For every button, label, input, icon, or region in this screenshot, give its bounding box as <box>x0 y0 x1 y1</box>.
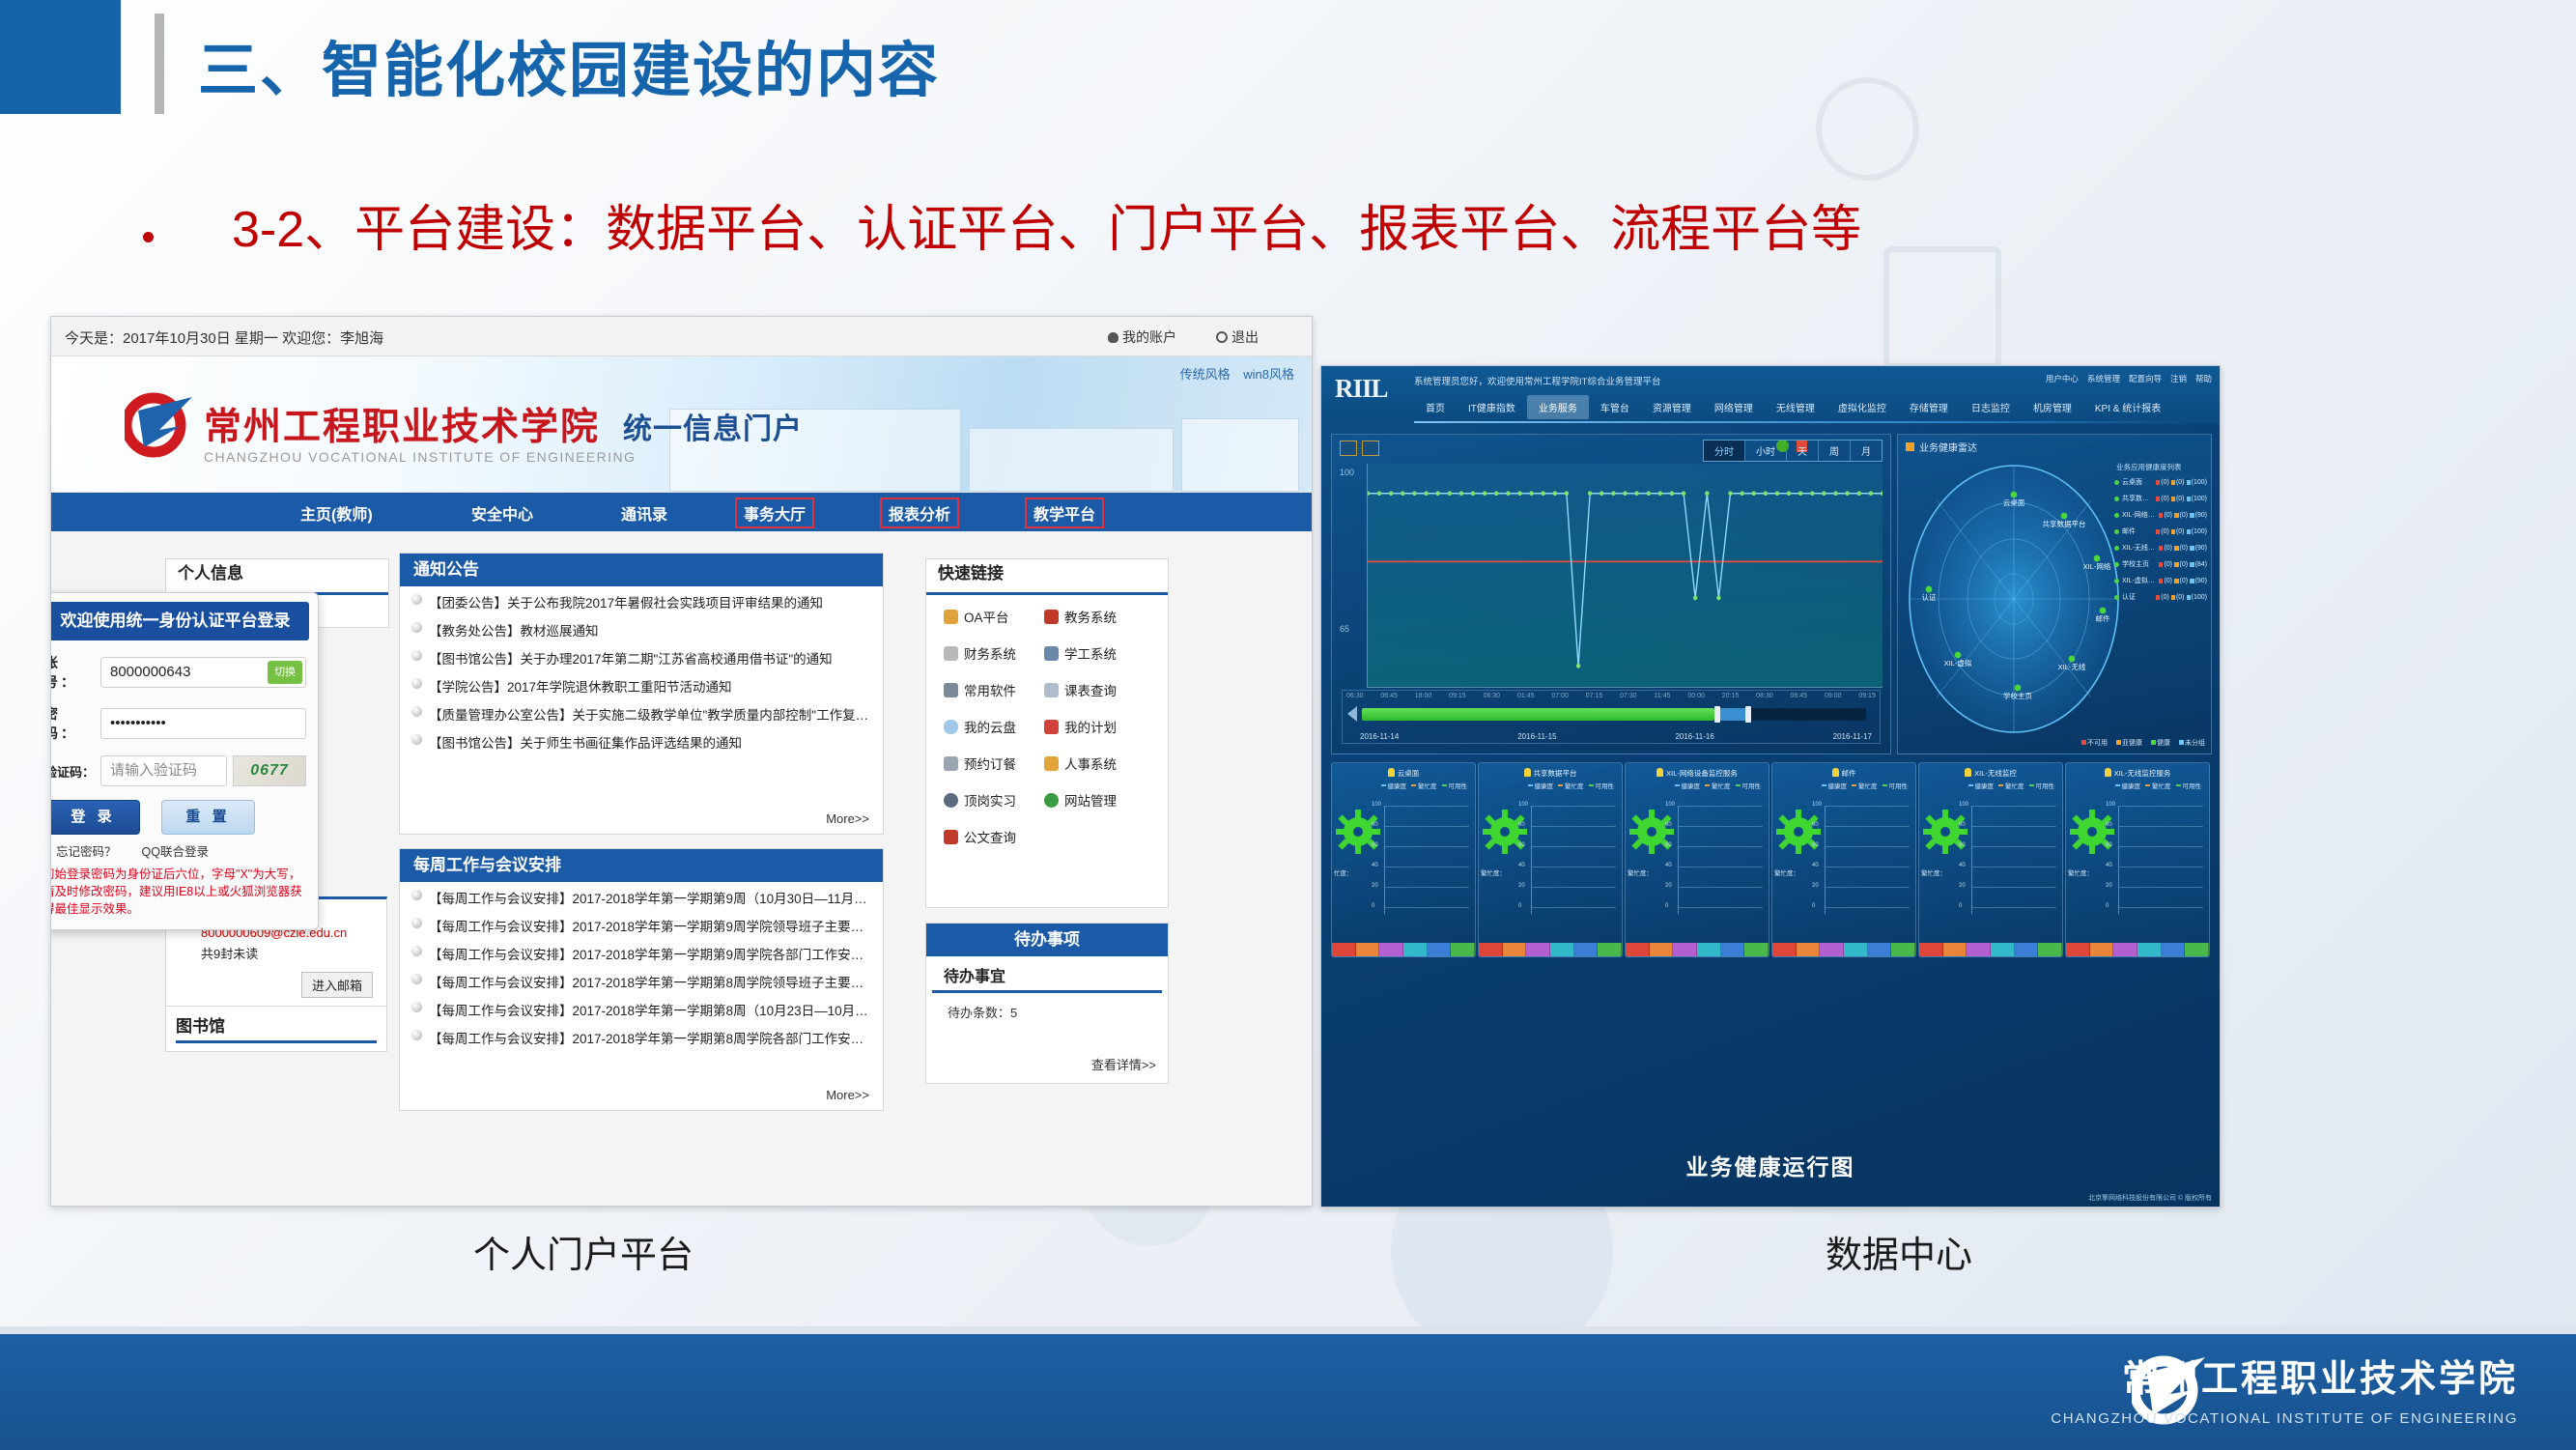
service-card[interactable]: 云桌面健康度繁忙度可用性忙度：10080604020008:3008:4509:… <box>1331 762 1476 957</box>
quicklink-academic-system[interactable]: 教务系统 <box>1044 607 1145 626</box>
list-item[interactable]: 【每周工作与会议安排】2017-2018学年第一学期第9周学院各部门工作安排表 <box>410 944 873 963</box>
health-app-name: XIL-虚拟… <box>2122 576 2157 585</box>
riil-logo: RIIL <box>1335 374 1388 404</box>
switch-account-tag[interactable]: 切换 <box>268 661 302 684</box>
card-chip[interactable] <box>2090 943 2114 956</box>
card-gridline <box>2119 867 2203 867</box>
quicklink-my-plan[interactable]: 我的计划 <box>1044 717 1145 736</box>
my-account-link[interactable]: 我的账户 <box>1108 327 1176 347</box>
card-chip[interactable] <box>1772 943 1797 956</box>
health-list-row[interactable]: 共享数据平台(0)(0)(100) <box>2114 494 2207 503</box>
red-count-swatch <box>2156 529 2160 534</box>
quicklink-meal-booking[interactable]: 预约订餐 <box>944 753 1044 773</box>
time-tick: 18:00 <box>1415 693 1432 699</box>
dc-help[interactable]: 帮助 <box>2195 373 2212 384</box>
quicklink-internship[interactable]: 顶岗实习 <box>944 790 1044 810</box>
todo-view-link[interactable]: 查看详情>> <box>1091 1055 1156 1073</box>
blue-count-swatch <box>2187 595 2191 600</box>
login-dialog: 欢迎使用统一身份认证平台登录 帐 号： 8000000643 切换 密 码： •… <box>50 592 319 930</box>
account-input[interactable]: 8000000643 切换 <box>100 657 306 688</box>
time-tick: 07:15 <box>1586 693 1603 699</box>
dc-caption: 业务健康运行图 <box>1321 1149 2220 1181</box>
status-healthy: 健康 <box>2149 738 2170 748</box>
trend-chart-panel: 分时 小时 天 周 月 100 65 06:3006:4518:0009:150… <box>1331 434 1891 754</box>
card-y-tick: 20 <box>1518 883 1525 889</box>
radar-node[interactable] <box>1955 652 1962 659</box>
quicklink-document-query[interactable]: 公文查询 <box>944 827 1044 846</box>
forgot-password-link[interactable]: 忘记密码？ <box>56 841 117 860</box>
list-item[interactable]: 【每周工作与会议安排】2017-2018学年第一学期第9周学院领导班子主要工作安… <box>410 916 873 935</box>
date-tick: 2016-11-17 <box>1833 732 1872 741</box>
card-legend: 健康度繁忙度可用性 <box>1919 779 2062 790</box>
dc-config-wizard[interactable]: 配置向导 <box>2129 373 2162 384</box>
status-dot-icon <box>2114 579 2119 583</box>
dc-nav-home[interactable]: 首页 <box>1414 395 1457 419</box>
health-list-row[interactable]: XIL-无线…(0)(0)(90) <box>2114 543 2207 553</box>
card-legend: 健康度繁忙度可用性 <box>1626 779 1769 790</box>
orange-count: (0) <box>2176 528 2185 535</box>
card-chip[interactable] <box>1943 943 1967 956</box>
range-tab-week[interactable]: 周 <box>1819 441 1851 461</box>
password-input[interactable]: ••••••••••• <box>100 708 306 739</box>
card-chip-row <box>2066 943 2209 956</box>
dc-header: RIIL 系统管理员您好，欢迎使用常州工程学院IT综合业务管理平台 用户中心 系… <box>1321 366 2220 424</box>
card-chip[interactable] <box>1332 943 1356 956</box>
dc-nav-business-service[interactable]: 业务服务 <box>1527 395 1589 419</box>
card-chip[interactable] <box>1673 943 1697 956</box>
card-busy-label: 繁忙度： <box>1921 867 1946 877</box>
nav-item-report-analysis[interactable]: 报表分析 <box>880 498 959 528</box>
card-gridline <box>1826 806 1910 807</box>
card-y-tick: 60 <box>1959 842 1966 848</box>
dc-welcome-text: 系统管理员您好，欢迎使用常州工程学院IT综合业务管理平台 <box>1414 374 1660 387</box>
trend-line-chart <box>1368 464 1882 687</box>
y-axis-tick-max: 100 <box>1340 468 1354 477</box>
card-chip[interactable] <box>2162 943 2186 956</box>
card-chip[interactable] <box>2185 943 2209 956</box>
card-chip[interactable] <box>1356 943 1380 956</box>
red-count: (0) <box>2161 496 2169 502</box>
range-slider-handle-right[interactable] <box>1745 706 1751 723</box>
blue-count: (100) <box>2192 479 2207 486</box>
campus-photo-deco-2 <box>969 428 1174 492</box>
time-tick: 09:15 <box>1449 693 1466 699</box>
card-chip[interactable] <box>1797 943 1821 956</box>
skin-classic-link[interactable]: 传统风格 <box>1180 367 1231 382</box>
health-list-title: 业务应用健康度列表 <box>2114 462 2207 472</box>
quicklink-website-admin[interactable]: 网站管理 <box>1044 790 1145 810</box>
card-chip[interactable] <box>1697 943 1721 956</box>
card-title: 共享数据平台 <box>1479 763 1622 779</box>
blue-count-swatch <box>2190 579 2194 583</box>
nav-item-security[interactable]: 安全中心 <box>471 501 533 525</box>
quicklink-finance-system[interactable]: 财务系统 <box>944 643 1044 663</box>
red-count-swatch <box>2159 579 2164 583</box>
card-chip[interactable] <box>1526 943 1550 956</box>
card-chip[interactable] <box>2015 943 2039 956</box>
card-chip[interactable] <box>1574 943 1599 956</box>
calendar-icon <box>1044 720 1059 734</box>
range-slider-handle-left[interactable] <box>1714 706 1720 723</box>
card-chip[interactable] <box>1868 943 1892 956</box>
list-item[interactable]: 【图书馆公告】关于办理2017年第二期"江苏省高校通用借书证"的通知 <box>410 648 873 668</box>
book-icon <box>944 830 958 844</box>
health-list-row[interactable]: 认证(0)(0)(100) <box>2114 592 2207 602</box>
card-y-tick: 40 <box>1665 863 1672 868</box>
radar-node[interactable] <box>1926 586 1933 593</box>
radar-node-label: 共享数据平台 <box>2043 519 2086 528</box>
list-item[interactable]: 【每周工作与会议安排】2017-2018学年第一学期第8周学院领导班子主要工作安… <box>410 972 873 991</box>
red-count-swatch <box>2156 595 2160 600</box>
captcha-row: 验证码： 请输入验证码 0677 <box>50 755 306 786</box>
health-list-row[interactable]: XIL-网络…(0)(0)(90) <box>2114 510 2207 520</box>
service-card[interactable]: XIL-无线监控服务健康度繁忙度可用性繁忙度：10080604020008:30… <box>2065 762 2210 957</box>
skin-win8-link[interactable]: win8风格 <box>1243 367 1294 382</box>
dc-user-center[interactable]: 用户中心 <box>2046 373 2079 384</box>
status-dot-icon <box>2114 562 2119 567</box>
dc-nav-virtualization[interactable]: 虚拟化监控 <box>1826 395 1898 419</box>
card-plot-area: 10080604020008:3008:4509:0009:15 <box>1678 806 1763 914</box>
list-item[interactable]: 【团委公告】关于公布我院2017年暑假社会实践项目评审结果的通知 <box>410 592 873 611</box>
card-gridline <box>1385 867 1469 867</box>
card-chip[interactable] <box>1479 943 1503 956</box>
time-tick: 08:30 <box>1756 693 1773 699</box>
card-gridline <box>1532 846 1616 847</box>
status-unavailable: 不可用 <box>2080 738 2108 748</box>
health-app-name: 学校主页 <box>2122 559 2157 569</box>
title-accent-block <box>0 0 121 114</box>
range-tab-month[interactable]: 月 <box>1851 441 1882 461</box>
card-y-tick: 100 <box>1812 802 1822 808</box>
card-gridline <box>1532 907 1616 908</box>
card-y-tick: 0 <box>1372 903 1374 909</box>
radar-node[interactable] <box>2069 656 2076 663</box>
card-y-tick: 60 <box>1372 842 1378 848</box>
card-y-tick: 100 <box>1372 802 1381 808</box>
service-card[interactable]: XIL-无线监控健康度繁忙度可用性繁忙度：10080604020008:3008… <box>1918 762 2063 957</box>
card-chip[interactable] <box>1428 943 1452 956</box>
card-chip[interactable] <box>1650 943 1674 956</box>
card-gridline <box>1826 867 1910 867</box>
portal-banner: 传统风格 win8风格 常州工程职业技术学院 CHANGZHOU VOCATIO… <box>51 356 1312 493</box>
health-list-row[interactable]: 云桌面(0)(0)(100) <box>2114 477 2207 487</box>
dc-nav-log-monitor[interactable]: 日志监控 <box>1960 395 2022 419</box>
captcha-label: 验证码： <box>50 762 100 781</box>
card-y-tick: 0 <box>2106 903 2109 909</box>
chart-view-toggle[interactable] <box>1340 441 1379 456</box>
card-chip[interactable] <box>1820 943 1844 956</box>
list-item[interactable]: 【每周工作与会议安排】2017-2018学年第一学期第8周（10月23日—10月… <box>410 1000 873 1019</box>
card-title: 云桌面 <box>1332 763 1475 779</box>
blue-count: (84) <box>2195 561 2207 568</box>
orange-count: (0) <box>2180 512 2189 519</box>
quicklink-hr-system[interactable]: 人事系统 <box>1044 753 1145 773</box>
card-chip[interactable] <box>1919 943 1943 956</box>
login-button[interactable]: 登 录 <box>50 800 140 835</box>
card-gridline <box>1679 826 1763 827</box>
card-gridline <box>1679 806 1763 807</box>
range-tab-day[interactable]: 天 <box>1787 441 1819 461</box>
nav-item-home[interactable]: 主页(教师) <box>300 501 373 525</box>
quicklink-my-cloud-disk[interactable]: 我的云盘 <box>944 717 1044 736</box>
card-y-tick: 40 <box>1812 863 1819 868</box>
monitor-icon <box>944 683 958 697</box>
card-gridline <box>1679 887 1763 888</box>
service-card[interactable]: 邮件健康度繁忙度可用性繁忙度：10080604020008:3008:4509:… <box>1771 762 1916 957</box>
library-title: 图书馆 <box>176 1012 377 1043</box>
list-item[interactable]: 【每周工作与会议安排】2017-2018学年第一学期第8周学院各部门工作安排表 <box>410 1028 873 1047</box>
card-chip[interactable] <box>1844 943 1868 956</box>
dc-nav-network[interactable]: 网络管理 <box>1703 395 1765 419</box>
card-y-tick: 20 <box>1959 883 1966 889</box>
card-chip[interactable] <box>1891 943 1915 956</box>
library-panel: 图书馆 <box>165 1007 387 1052</box>
cutlery-icon <box>944 756 958 771</box>
skin-switcher[interactable]: 传统风格 win8风格 <box>1171 364 1294 383</box>
dc-footer-note: 北京擎网络科技股份有限公司 © 版权所有 <box>2088 1193 2212 1203</box>
notice-more-link[interactable]: More>> <box>826 811 869 826</box>
caption-left: 个人门户平台 <box>473 1225 694 1278</box>
card-y-tick: 20 <box>2106 883 2112 889</box>
card-chip[interactable] <box>2113 943 2137 956</box>
status-dot-icon <box>2114 546 2119 551</box>
card-y-tick: 80 <box>1665 822 1672 828</box>
range-tab-minute[interactable]: 分时 <box>1704 441 1745 461</box>
reset-button[interactable]: 重 置 <box>161 800 255 835</box>
service-card[interactable]: 共享数据平台健康度繁忙度可用性繁忙度：10080604020008:3008:4… <box>1478 762 1623 957</box>
card-y-tick: 20 <box>1372 883 1378 889</box>
blue-count: (100) <box>2192 528 2207 535</box>
card-chip[interactable] <box>1550 943 1574 956</box>
card-chip[interactable] <box>2137 943 2162 956</box>
card-chip-row <box>1919 943 2062 956</box>
status-dot-icon <box>2114 513 2119 518</box>
quicklink-student-affairs[interactable]: 学工系统 <box>1044 643 1145 663</box>
list-item[interactable]: 【每周工作与会议安排】2017-2018学年第一学期第9周（10月30日—11月… <box>410 888 873 907</box>
card-gridline <box>1532 806 1616 807</box>
orange-count: (0) <box>2180 561 2189 568</box>
card-chip[interactable] <box>1721 943 1745 956</box>
card-busy-label: 繁忙度： <box>1481 867 1506 877</box>
card-chip[interactable] <box>1451 943 1475 956</box>
health-list-rows: 云桌面(0)(0)(100)共享数据平台(0)(0)(100)XIL-网络…(0… <box>2114 477 2207 602</box>
card-chip[interactable] <box>1503 943 1527 956</box>
range-tab-hour[interactable]: 小时 <box>1745 441 1787 461</box>
range-slider-track[interactable] <box>1362 708 1866 721</box>
status-dot-icon <box>2114 497 2119 501</box>
card-gridline <box>1972 887 2056 888</box>
card-chip[interactable] <box>2066 943 2090 956</box>
notice-title: 通知公告 <box>400 554 883 586</box>
todo-count: 待办条数：5 <box>926 993 1168 1021</box>
card-gridline <box>1679 846 1763 847</box>
card-legend: 健康度繁忙度可用性 <box>1479 779 1622 790</box>
quicklink-timetable-query[interactable]: 课表查询 <box>1044 680 1145 699</box>
health-list-row[interactable]: 邮件(0)(0)(100) <box>2114 526 2207 536</box>
radar-node[interactable] <box>2100 608 2107 614</box>
blue-count-swatch <box>2190 513 2194 518</box>
card-title: XIL-网络设备监控服务 <box>1626 763 1769 779</box>
quicklink-oa-platform[interactable]: OA平台 <box>944 607 1044 626</box>
slider-left-arrow-icon[interactable] <box>1347 706 1357 722</box>
power-icon <box>1216 331 1228 343</box>
nav-item-service-hall[interactable]: 事务大厅 <box>735 498 814 528</box>
list-item[interactable]: 【图书馆公告】关于师生书画征集作品评选结果的通知 <box>410 732 873 752</box>
qq-login-link[interactable]: QQ联合登录 <box>142 841 209 860</box>
dc-nav-room[interactable]: 机房管理 <box>2022 395 2083 419</box>
date-tick: 2016-11-15 <box>1517 732 1556 741</box>
watermark-shape-4 <box>1816 77 1919 181</box>
login-sub-links: 忘记密码？ QQ联合登录 <box>56 841 306 860</box>
bulb-icon <box>1524 768 1531 777</box>
money-icon <box>944 646 958 661</box>
red-count: (0) <box>2161 594 2169 601</box>
card-y-tick: 0 <box>1665 903 1668 909</box>
todo-title: 待办事宜 <box>932 956 1162 993</box>
card-gridline <box>1385 907 1469 908</box>
service-card[interactable]: XIL-网络设备监控服务健康度繁忙度可用性繁忙度：10080604020008:… <box>1625 762 1769 957</box>
list-item[interactable]: 【质量管理办公室公告】关于实施二级教学单位"教学质量内部控制"工作复核的通知 <box>410 704 873 724</box>
nav-item-contacts[interactable]: 通讯录 <box>621 501 667 525</box>
time-tick: 06:45 <box>1380 693 1398 699</box>
card-chip[interactable] <box>1403 943 1428 956</box>
red-count: (0) <box>2164 545 2172 552</box>
bulb-icon <box>1388 768 1395 777</box>
card-y-tick: 100 <box>1959 802 1968 808</box>
radar-status-legend: 不可用 亚健康 健康 未分组 <box>2080 738 2205 748</box>
card-gridline <box>2119 806 2203 807</box>
card-title: XIL-无线监控服务 <box>2066 763 2209 779</box>
blue-count: (90) <box>2195 545 2207 552</box>
health-app-name: XIL-无线… <box>2122 543 2157 553</box>
table-view-icon[interactable] <box>1340 441 1357 456</box>
card-chip[interactable] <box>1967 943 1991 956</box>
dc-nav-resource[interactable]: 资源管理 <box>1641 395 1703 419</box>
card-y-tick: 60 <box>2106 842 2112 848</box>
caption-right: 数据中心 <box>1826 1225 1972 1278</box>
campus-photo-deco-3 <box>1181 418 1299 492</box>
weekly-schedule-panel: 每周工作与会议安排 【每周工作与会议安排】2017-2018学年第一学期第9周（… <box>399 848 884 1111</box>
time-range-slider[interactable]: 06:3006:4518:0009:1506:3001:4507:0007:15… <box>1342 690 1881 744</box>
card-plot-area: 10080604020008:3008:4509:0009:15 <box>1971 806 2056 914</box>
radar-node[interactable] <box>2094 555 2101 562</box>
card-chip[interactable] <box>1598 943 1622 956</box>
enter-mailbox-button[interactable]: 进入邮箱 <box>301 972 373 998</box>
card-y-tick: 80 <box>1812 822 1819 828</box>
card-busy-label: 繁忙度： <box>1628 867 1653 877</box>
dc-logout[interactable]: 注销 <box>2170 373 2187 384</box>
radar-node-label: XIL-无线 <box>2058 662 2086 671</box>
orange-count: (0) <box>2180 578 2189 584</box>
dc-nav-wireless[interactable]: 无线管理 <box>1765 395 1826 419</box>
radar-panel-title: 业务健康雷达 <box>1906 440 1977 454</box>
red-count: (0) <box>2161 479 2169 486</box>
card-y-tick: 100 <box>1665 802 1675 808</box>
card-chip-row <box>1332 943 1475 956</box>
weekly-more-link[interactable]: More>> <box>826 1088 869 1102</box>
captcha-input[interactable]: 请输入验证码 <box>100 755 227 786</box>
dc-nav-kpi-reports[interactable]: KPI & 统计报表 <box>2083 395 2172 419</box>
time-tick: 11:45 <box>1655 693 1671 699</box>
portal-topbar: 今天是：2017年10月30日 星期一 欢迎您：李旭海 我的账户 退出 <box>51 317 1312 356</box>
card-y-tick: 80 <box>2106 822 2112 828</box>
weekly-list: 【每周工作与会议安排】2017-2018学年第一学期第9周（10月30日—11月… <box>400 882 883 1047</box>
radar-node-label: 学校主页 <box>2003 691 2032 700</box>
card-chip[interactable] <box>1744 943 1769 956</box>
card-chip[interactable] <box>2038 943 2062 956</box>
health-radar-panel: 业务健康雷达 云桌面共享数据平台XIL-网络邮件XIL-无线学校主页XIL-虚拟… <box>1897 434 2212 754</box>
card-gridline <box>1385 806 1469 807</box>
radar-node-label: 认证 <box>1922 592 1938 602</box>
dc-nav-vehicle[interactable]: 车管台 <box>1589 395 1641 419</box>
radar-node[interactable] <box>2061 513 2068 520</box>
card-y-tick: 20 <box>1812 883 1819 889</box>
dc-nav-storage[interactable]: 存储管理 <box>1898 395 1960 419</box>
chart-view-icon[interactable] <box>1362 441 1379 456</box>
radar-node[interactable] <box>2015 685 2022 692</box>
card-y-tick: 60 <box>1518 842 1525 848</box>
card-busy-label: 繁忙度： <box>1774 867 1799 877</box>
quicklink-common-software[interactable]: 常用软件 <box>944 680 1044 699</box>
card-chip[interactable] <box>1991 943 2015 956</box>
dc-user-menu: 用户中心 系统管理 配置向导 注销 帮助 <box>2046 373 2212 384</box>
orange-count: (0) <box>2180 545 2189 552</box>
id-card-icon <box>1044 646 1059 661</box>
time-tick: 09:00 <box>1825 693 1842 699</box>
footer-school-name-cn: 常州工程职业技术学院 <box>2122 1349 2518 1402</box>
user-icon <box>1108 332 1118 343</box>
status-dot-icon <box>2114 480 2119 485</box>
card-gridline <box>2119 907 2203 908</box>
list-item[interactable]: 【学院公告】2017年学院退休教职工重阳节活动通知 <box>410 676 873 696</box>
dc-system-admin[interactable]: 系统管理 <box>2087 373 2120 384</box>
health-app-name: 认证 <box>2122 592 2154 602</box>
card-y-tick: 40 <box>2106 863 2112 868</box>
bulb-icon <box>1965 768 1971 777</box>
card-gridline <box>1972 846 2056 847</box>
bulb-icon <box>2105 768 2111 777</box>
logout-link[interactable]: 退出 <box>1216 327 1259 347</box>
captcha-image[interactable]: 0677 <box>233 755 306 786</box>
time-tick: 07:30 <box>1620 693 1637 699</box>
card-gridline <box>1679 867 1763 867</box>
card-y-tick: 0 <box>1812 903 1815 909</box>
red-count: (0) <box>2164 561 2172 568</box>
time-tick: 08:45 <box>1791 693 1808 699</box>
bottom-band-divider <box>0 1326 2576 1334</box>
nav-item-teaching-platform[interactable]: 教学平台 <box>1025 498 1104 528</box>
radar-node[interactable] <box>2011 492 2018 498</box>
card-gridline <box>2119 887 2203 888</box>
todo-banner: 待办事项 <box>926 924 1168 956</box>
card-chip[interactable] <box>1626 943 1650 956</box>
red-count-swatch <box>2156 480 2160 485</box>
account-label: 帐 号： <box>50 653 100 692</box>
password-row: 密 码： ••••••••••• <box>50 704 306 743</box>
card-gridline <box>1679 907 1763 908</box>
mail-unread-count: 共9封未读 <box>201 944 377 962</box>
health-list-row[interactable]: XIL-虚拟…(0)(0)(90) <box>2114 576 2207 585</box>
date-tick-row: 2016-11-142016-11-152016-11-162016-11-17 <box>1360 732 1872 741</box>
health-list-row[interactable]: 学校主页(0)(0)(84) <box>2114 559 2207 569</box>
list-item[interactable]: 【教务处公告】教材巡展通知 <box>410 620 873 640</box>
dc-nav-health-index[interactable]: IT健康指数 <box>1457 395 1527 419</box>
orange-count-swatch <box>2171 595 2175 600</box>
health-list-legend: 业务应用健康度列表 云桌面(0)(0)(100)共享数据平台(0)(0)(100… <box>2114 462 2207 609</box>
status-dot-icon <box>2114 529 2119 534</box>
card-chip[interactable] <box>1379 943 1403 956</box>
time-tick: 01:45 <box>1517 693 1535 699</box>
